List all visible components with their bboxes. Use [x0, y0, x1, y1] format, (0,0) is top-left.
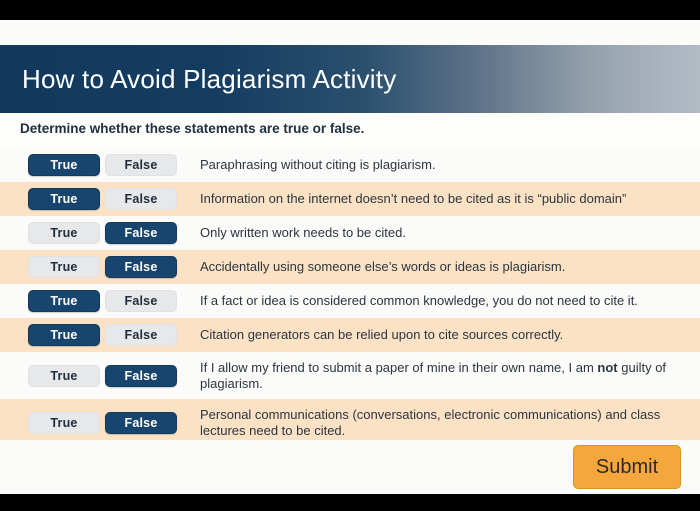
true-button[interactable]: True [28, 365, 100, 387]
answer-button-group: TrueFalse [28, 188, 177, 210]
header-top-spacer [0, 20, 700, 45]
statement-text: If I allow my friend to submit a paper o… [200, 360, 700, 392]
true-button[interactable]: True [28, 412, 100, 434]
answer-button-group: TrueFalse [28, 324, 177, 346]
true-button[interactable]: True [28, 324, 100, 346]
instruction-text: Determine whether these statements are t… [20, 121, 364, 136]
question-row: TrueFalsePersonal communications (conver… [0, 399, 700, 446]
false-button[interactable]: False [105, 256, 177, 278]
statement-text: Accidentally using someone else’s words … [200, 259, 700, 275]
true-button[interactable]: True [28, 188, 100, 210]
question-row: TrueFalseIf I allow my friend to submit … [0, 352, 700, 399]
answer-button-group: TrueFalse [28, 222, 177, 244]
bottom-letterbox-bar [0, 494, 700, 511]
page-title: How to Avoid Plagiarism Activity [0, 64, 396, 95]
false-button[interactable]: False [105, 412, 177, 434]
question-row: TrueFalseCitation generators can be reli… [0, 318, 700, 352]
true-button[interactable]: True [28, 154, 100, 176]
false-button[interactable]: False [105, 222, 177, 244]
page-header: How to Avoid Plagiarism Activity [0, 45, 700, 113]
statement-text: Personal communications (conversations, … [200, 407, 700, 439]
answer-button-group: TrueFalse [28, 290, 177, 312]
true-button[interactable]: True [28, 256, 100, 278]
false-button[interactable]: False [105, 154, 177, 176]
question-row: TrueFalseAccidentally using someone else… [0, 250, 700, 284]
true-button[interactable]: True [28, 222, 100, 244]
question-row: TrueFalseParaphrasing without citing is … [0, 148, 700, 182]
answer-button-group: TrueFalse [28, 412, 177, 434]
answer-button-group: TrueFalse [28, 256, 177, 278]
activity-screen: How to Avoid Plagiarism Activity Determi… [0, 0, 700, 511]
statement-text: Only written work needs to be cited. [200, 225, 700, 241]
statement-text: Information on the internet doesn’t need… [200, 191, 700, 207]
answer-button-group: TrueFalse [28, 154, 177, 176]
top-letterbox-bar [0, 0, 700, 20]
statement-text: Paraphrasing without citing is plagiaris… [200, 157, 700, 173]
answer-button-group: TrueFalse [28, 365, 177, 387]
true-button[interactable]: True [28, 290, 100, 312]
submit-button[interactable]: Submit [573, 445, 681, 489]
question-row: TrueFalseOnly written work needs to be c… [0, 216, 700, 250]
question-row: TrueFalseIf a fact or idea is considered… [0, 284, 700, 318]
question-list: TrueFalseParaphrasing without citing is … [0, 148, 700, 446]
question-row: TrueFalseInformation on the internet doe… [0, 182, 700, 216]
false-button[interactable]: False [105, 188, 177, 210]
false-button[interactable]: False [105, 365, 177, 387]
statement-text: Citation generators can be relied upon t… [200, 327, 700, 343]
statement-text: If a fact or idea is considered common k… [200, 293, 700, 309]
submit-bar: Submit [0, 440, 700, 494]
false-button[interactable]: False [105, 290, 177, 312]
false-button[interactable]: False [105, 324, 177, 346]
